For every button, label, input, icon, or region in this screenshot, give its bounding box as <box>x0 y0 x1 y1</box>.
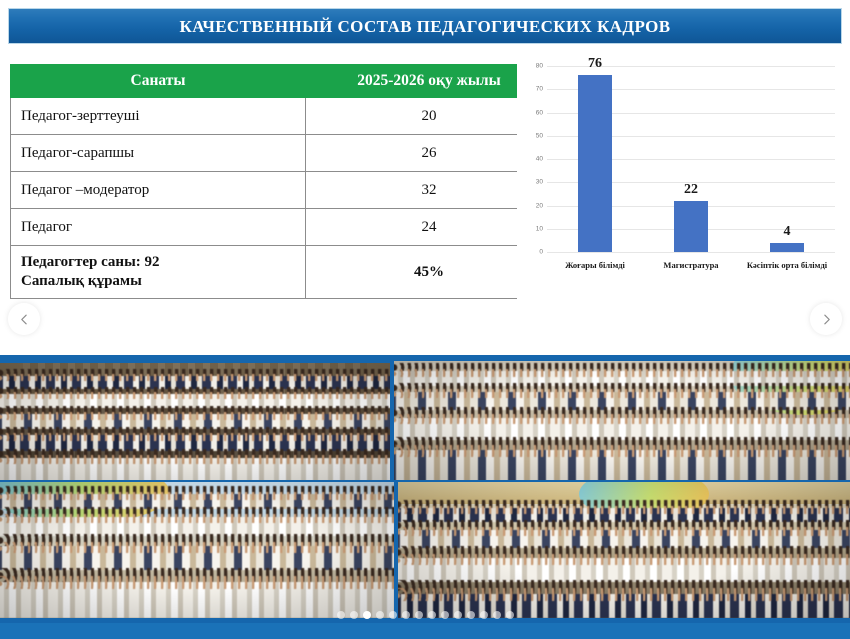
photo-group-photo-staff <box>0 363 390 480</box>
chart-y-axis-tick: 80 <box>536 63 543 70</box>
carousel-dot[interactable] <box>337 611 345 619</box>
table-cell-value: 24 <box>306 209 553 246</box>
chart-y-axis-tick: 40 <box>536 156 543 163</box>
carousel-dot[interactable] <box>350 611 358 619</box>
chevron-left-icon <box>18 313 31 326</box>
carousel-dot[interactable] <box>441 611 449 619</box>
carousel-dot[interactable] <box>376 611 384 619</box>
table-header-year: 2025-2026 оқу жылы <box>306 65 553 98</box>
chart-bar-value-label: 4 <box>784 224 791 240</box>
page-title: КАЧЕСТВЕННЫЙ СОСТАВ ПЕДАГОГИЧЕСКИХ КАДРО… <box>180 18 671 35</box>
slide-header-banner: КАЧЕСТВЕННЫЙ СОСТАВ ПЕДАГОГИЧЕСКИХ КАДРО… <box>8 8 842 44</box>
chart-y-axis-tick: 10 <box>536 225 543 232</box>
table-row: Педагог-сарапшы 26 <box>11 135 553 172</box>
table-cell-value: 32 <box>306 172 553 209</box>
chart-bar-value-label: 76 <box>588 56 602 72</box>
table-body: Педагог-зерттеуші 20 Педагог-сарапшы 26 … <box>11 98 553 299</box>
chart-x-axis-label: Магистратура <box>645 260 737 270</box>
table-header-category: Санаты <box>11 65 306 98</box>
chart-y-axis-tick: 70 <box>536 86 543 93</box>
chart-bar <box>770 243 804 252</box>
photo-vignette <box>0 363 390 480</box>
chart-y-axis-tick: 0 <box>539 249 543 256</box>
education-level-bar-chart: 80706050403020100 76Жоғары білімді22Маги… <box>517 62 839 300</box>
carousel-dot[interactable] <box>402 611 410 619</box>
carousel-dot[interactable] <box>506 611 514 619</box>
carousel-dot[interactable] <box>493 611 501 619</box>
table-row: Педагог –модератор 32 <box>11 172 553 209</box>
chart-bar <box>674 201 708 252</box>
photo-audience-hall-left <box>0 482 394 618</box>
chart-bar-value-label: 22 <box>684 182 698 198</box>
chevron-right-icon <box>820 313 833 326</box>
photo-audience-seated-front <box>394 361 850 480</box>
table-cell-category: Педагог <box>11 209 306 246</box>
table-row: Педагог-зерттеуші 20 <box>11 98 553 135</box>
carousel-dot[interactable] <box>415 611 423 619</box>
footer-bar <box>0 622 850 639</box>
chart-plot-area: 80706050403020100 <box>547 66 835 252</box>
total-quality-composition: Сапалық құрамы <box>21 272 295 291</box>
table-cell-category: Педагог-зерттеуші <box>11 98 306 135</box>
total-teachers-count: Педагогтер саны: 92 <box>21 253 295 272</box>
table-cell-total-label: Педагогтер саны: 92 Сапалық құрамы <box>11 246 306 299</box>
carousel-prev-button[interactable] <box>8 303 40 335</box>
photo-collage <box>0 355 850 622</box>
qualification-table: Санаты 2025-2026 оқу жылы Педагог-зертте… <box>10 64 553 299</box>
table-row: Педагог 24 <box>11 209 553 246</box>
table-cell-value: 20 <box>306 98 553 135</box>
carousel-dot[interactable] <box>454 611 462 619</box>
carousel-dot[interactable] <box>467 611 475 619</box>
chart-y-axis-tick: 30 <box>536 179 543 186</box>
chart-x-axis-label: Кәсіптік орта білімді <box>741 260 833 270</box>
photo-audience-hall-right <box>398 482 850 618</box>
table-cell-category: Педагог-сарапшы <box>11 135 306 172</box>
chart-y-axis-tick: 20 <box>536 202 543 209</box>
chart-gridline <box>547 252 835 253</box>
table-total-row: Педагогтер саны: 92 Сапалық құрамы 45% <box>11 246 553 299</box>
carousel-dot[interactable] <box>428 611 436 619</box>
carousel-dot[interactable] <box>480 611 488 619</box>
carousel-dot[interactable] <box>389 611 397 619</box>
presentation-slide: КАЧЕСТВЕННЫЙ СОСТАВ ПЕДАГОГИЧЕСКИХ КАДРО… <box>0 0 850 639</box>
carousel-pagination[interactable] <box>0 611 850 619</box>
table-head: Санаты 2025-2026 оқу жылы <box>11 65 553 98</box>
photo-vignette <box>394 361 850 480</box>
table-cell-total-value: 45% <box>306 246 553 299</box>
chart-bar <box>578 75 612 252</box>
table-cell-category: Педагог –модератор <box>11 172 306 209</box>
photo-vignette <box>398 482 850 618</box>
qualification-table-wrapper: Санаты 2025-2026 оқу жылы Педагог-зертте… <box>10 64 510 299</box>
photo-vignette <box>0 482 394 618</box>
chart-y-axis-tick: 60 <box>536 109 543 116</box>
table-header-row: Санаты 2025-2026 оқу жылы <box>11 65 553 98</box>
chart-x-axis-label: Жоғары білімді <box>549 260 641 270</box>
carousel-dot[interactable] <box>363 611 371 619</box>
table-cell-value: 26 <box>306 135 553 172</box>
slide-content-area: Санаты 2025-2026 оқу жылы Педагог-зертте… <box>0 44 850 355</box>
chart-y-axis-tick: 50 <box>536 132 543 139</box>
carousel-next-button[interactable] <box>810 303 842 335</box>
